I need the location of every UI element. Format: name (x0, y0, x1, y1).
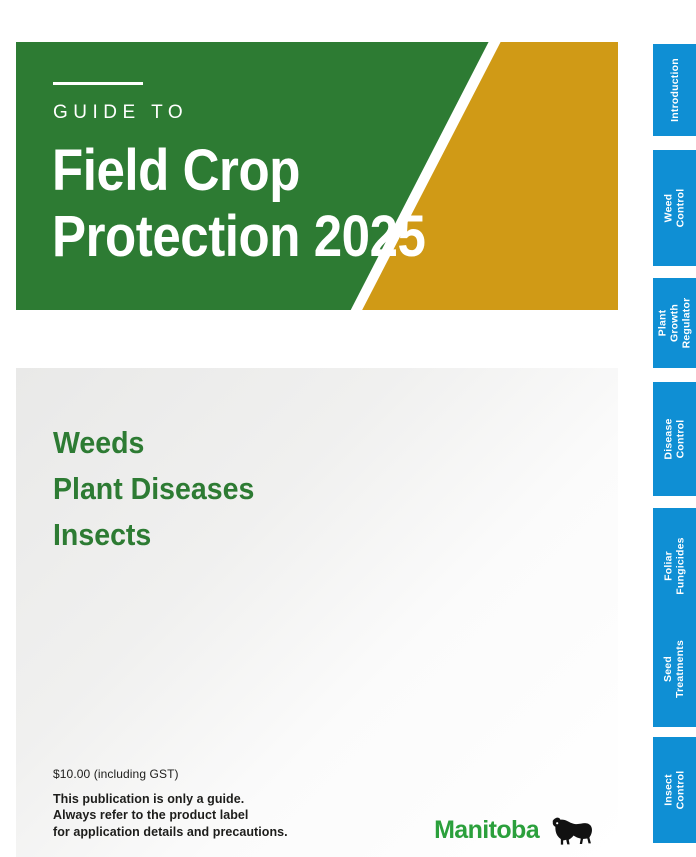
tab-label: Foliar Fungicides (663, 537, 687, 594)
tab-label: Disease Control (663, 418, 687, 461)
tab-label: Introduction (669, 58, 681, 122)
section-tab-rail: Introduction Weed Control Plant Growth R… (653, 0, 696, 857)
bison-icon (546, 815, 594, 845)
tab-label: Seed Treatments (663, 640, 687, 698)
page-title: Field Crop Protection 2025 (52, 138, 426, 270)
tab-label: Weed Control (663, 187, 687, 230)
header-banner: GUIDE TO Field Crop Protection 2025 (16, 42, 618, 310)
tab-weed-control[interactable]: Weed Control (653, 150, 696, 266)
tab-introduction[interactable]: Introduction (653, 44, 696, 136)
topic-item-weeds: Weeds (53, 420, 254, 466)
tab-label: Insect Control (663, 769, 687, 812)
tab-foliar-fungicides[interactable]: Foliar Fungicides (653, 508, 696, 624)
tab-insect-control[interactable]: Insect Control (653, 737, 696, 843)
header-content: GUIDE TO Field Crop Protection 2025 (53, 42, 503, 310)
manitoba-logo: Manitoba (434, 815, 594, 845)
topic-item-plant-diseases: Plant Diseases (53, 466, 254, 512)
topic-item-insects: Insects (53, 512, 254, 558)
header-eyebrow: GUIDE TO (53, 102, 188, 124)
price-label: $10.00 (including GST) (53, 767, 593, 781)
manitoba-wordmark: Manitoba (434, 818, 539, 843)
tab-disease-control[interactable]: Disease Control (653, 382, 696, 496)
content-panel: Weeds Plant Diseases Insects $10.00 (inc… (16, 368, 618, 857)
tab-seed-treatments[interactable]: Seed Treatments (653, 611, 696, 727)
header-rule (53, 82, 143, 85)
tab-plant-growth-regulator[interactable]: Plant Growth Regulator (653, 278, 696, 368)
cover-page: GUIDE TO Field Crop Protection 2025 Weed… (0, 0, 640, 857)
topic-list: Weeds Plant Diseases Insects (53, 420, 272, 558)
tab-label: Plant Growth Regulator (657, 298, 693, 349)
